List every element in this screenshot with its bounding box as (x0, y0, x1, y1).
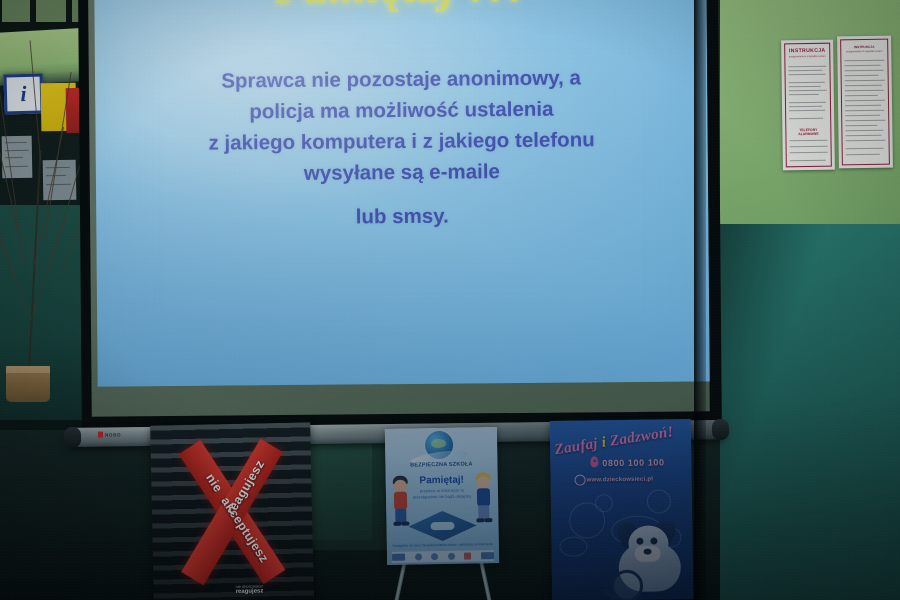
instrukcja-notice: INSTRUKCJA postępowania na wypadek pożar… (837, 36, 893, 169)
dark-furniture (310, 444, 372, 540)
nobo-mark-icon (98, 432, 103, 438)
slide-title: Pamiętaj !!! (94, 0, 706, 17)
slide-line: lub smsy. (122, 198, 682, 234)
wall-edge-shadow (694, 0, 706, 600)
slide-line: z jakiego komputera i z jakiego telefonu (121, 124, 681, 160)
photo-scene: i INSTRUKCJA postępowania w przypadku po… (0, 0, 900, 600)
slide-line: Sprawca nie pozostaje anonimowy, a (121, 62, 681, 98)
roller-end-cap (712, 419, 729, 440)
notice-subtitle: postępowania na wypadek pożaru (843, 50, 885, 54)
poster-bezpieczna-szkola: BEZPIECZNA SZKOŁA Pamiętaj! przemoc w in… (385, 427, 499, 565)
nobo-brand-label: NOBO (105, 432, 121, 437)
notice-title: INSTRUKCJA (787, 48, 827, 55)
poster-footer-text: reagujesz (236, 588, 264, 595)
poster-footer-small: nie akceptujesz (235, 582, 309, 589)
roller-end-cap (64, 427, 81, 448)
instrukcja-notice: INSTRUKCJA postępowania w przypadku poża… (781, 40, 835, 171)
wall-shadow (700, 224, 900, 600)
poster-nie-akceptujesz: nie akceptujesz reagujesz nie akceptujes… (150, 422, 314, 600)
notice-subtitle: postępowania w przypadku pożaru (787, 55, 827, 59)
slide-line: policja ma możliwość ustalenia (121, 93, 681, 129)
notice-section-title: TELEFONY ALARMOWE (789, 128, 827, 137)
slide-body: Sprawca nie pozostaje anonimowy, a polic… (121, 62, 682, 235)
plant-pot (6, 366, 50, 402)
nobo-logo: NOBO (98, 431, 121, 437)
notice-title: INSTRUKCJA (843, 45, 885, 50)
projected-slide: Pamiętaj !!! Sprawca nie pozostaje anoni… (94, 0, 709, 387)
poster-zadzwon: Zaufaj i Zadzwoń! 0800 100 100 www.dziec… (550, 419, 693, 600)
poster-footer: nie akceptujesz reagujesz (235, 582, 309, 596)
information-icon: i (3, 73, 43, 114)
slide-line: wysyłane są e-maile (122, 155, 682, 191)
